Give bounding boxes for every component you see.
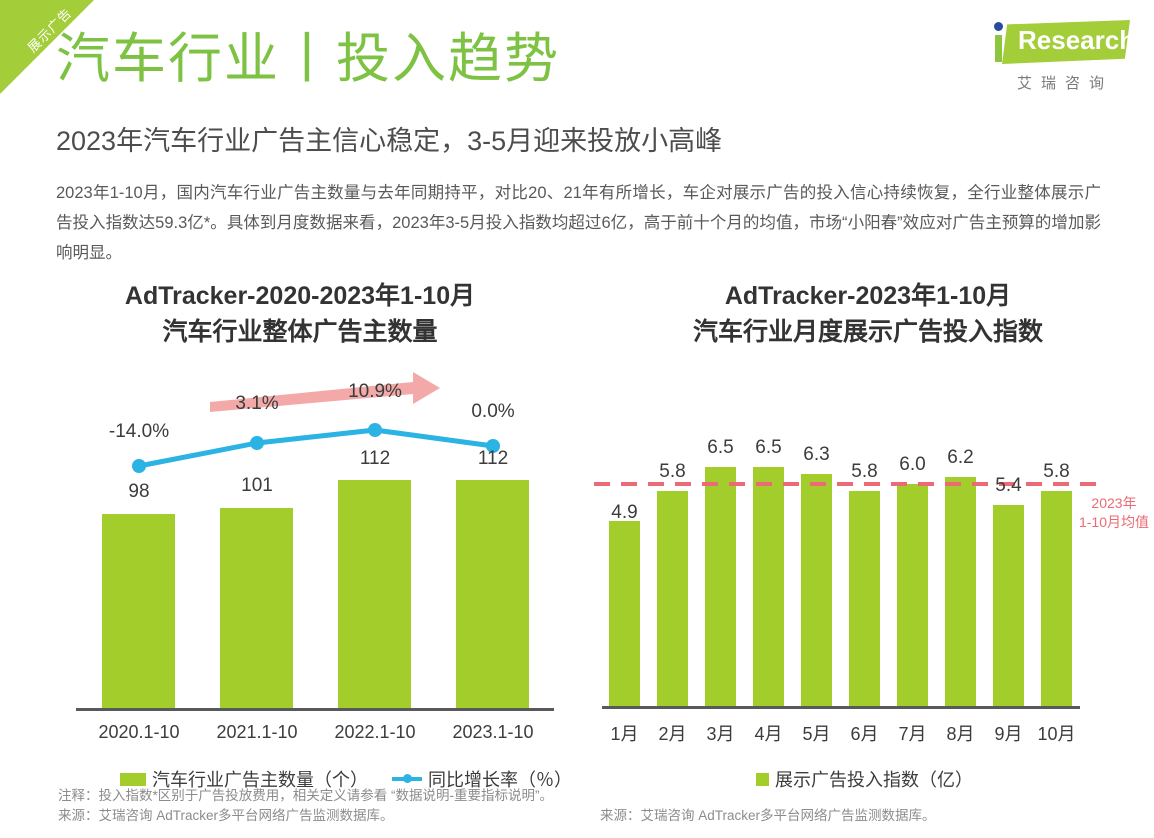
pct-label-2022: 10.9% xyxy=(318,381,432,403)
average-annotation-line2: 1-10月均值 xyxy=(1079,514,1149,530)
chart-monthly-index: AdTracker-2023年1-10月 汽车行业月度展示广告投入指数 xyxy=(588,278,1148,798)
growth-point-2020 xyxy=(132,459,146,473)
value-month-10: 5.8 xyxy=(1028,461,1085,483)
value-month-1: 4.9 xyxy=(596,502,653,524)
pct-label-2020: -14.0% xyxy=(82,421,196,443)
bar-2021 xyxy=(220,508,293,708)
value-month-2: 5.8 xyxy=(644,461,701,483)
x-label-2021: 2021.1-10 xyxy=(200,722,314,743)
footnote-left: 注释：投入指数*区别于广告投放费用，相关定义请参看 “数据说明-重要指标说明”。… xyxy=(58,786,578,826)
x-label-2022: 2022.1-10 xyxy=(318,722,432,743)
average-annotation-line1: 2023年 xyxy=(1091,495,1136,511)
page-title: 汽车行业丨投入趋势 xyxy=(56,28,560,90)
x-label-2023: 2023.1-10 xyxy=(436,722,550,743)
bar-2022 xyxy=(338,480,411,708)
bar-month-9 xyxy=(993,505,1024,706)
bar-month-7 xyxy=(897,484,928,706)
body-paragraph: 2023年1-10月，国内汽车行业广告主数量与去年同期持平，对比20、21年有所… xyxy=(56,178,1101,268)
bar-month-4 xyxy=(753,467,784,706)
chart-advertiser-count: AdTracker-2020-2023年1-10月 汽车行业整体广告主数量 xyxy=(20,278,580,798)
value-month-8: 6.2 xyxy=(932,447,989,469)
bar-month-1 xyxy=(609,521,640,706)
chart-right-graphics xyxy=(588,278,1148,748)
x-label-2020: 2020.1-10 xyxy=(82,722,196,743)
pct-label-2023: 0.0% xyxy=(436,401,550,423)
legend-index-label: 展示广告投入指数（亿） xyxy=(775,766,973,792)
bar-value-2023: 112 xyxy=(436,448,550,470)
bar-month-8 xyxy=(945,477,976,706)
footnote-right: 来源：艾瑞咨询 AdTracker多平台网络广告监测数据库。 xyxy=(600,806,1100,826)
page-subtitle: 2023年汽车行业广告主信心稳定，3-5月迎来投放小高峰 xyxy=(56,124,722,158)
bar-month-5 xyxy=(801,474,832,706)
bar-2020 xyxy=(102,514,175,708)
bar-month-6 xyxy=(849,491,880,706)
bar-month-10 xyxy=(1041,491,1072,706)
chart-right-legend: 展示广告投入指数（亿） xyxy=(756,766,973,792)
logo-chinese-name: 艾瑞咨询 xyxy=(998,72,1132,93)
chart-left-plot: -14.0% 3.1% 10.9% 0.0% 98 101 112 112 20… xyxy=(20,278,580,748)
bar-value-2022: 112 xyxy=(318,448,432,470)
bar-month-2 xyxy=(657,491,688,706)
legend-item-index[interactable]: 展示广告投入指数（亿） xyxy=(756,766,973,792)
logo-i-stem-icon xyxy=(995,35,1002,62)
pct-label-2021: 3.1% xyxy=(200,393,314,415)
x-label-month-10: 10月 xyxy=(1028,720,1085,746)
bar-2023 xyxy=(456,480,529,708)
growth-point-2021 xyxy=(250,436,264,450)
average-line-annotation: 2023年 1-10月均值 xyxy=(1074,494,1154,532)
bar-month-3 xyxy=(705,467,736,706)
legend-index-swatch-icon xyxy=(756,773,769,786)
logo-wordmark: Research xyxy=(1018,25,1135,56)
bar-value-2021: 101 xyxy=(200,475,314,497)
iresearch-logo: Research 艾瑞咨询 xyxy=(982,16,1132,100)
legend-line-swatch-icon xyxy=(392,777,422,781)
chart-left-graphics xyxy=(20,278,580,748)
x-axis-line xyxy=(602,706,1080,709)
growth-point-2022 xyxy=(368,423,382,437)
legend-bar-swatch-icon xyxy=(120,773,146,786)
logo-i-dot-icon xyxy=(994,22,1003,31)
slide-page: 展示广告 汽车行业丨投入趋势 2023年汽车行业广告主信心稳定，3-5月迎来投放… xyxy=(0,0,1154,838)
bar-value-2020: 98 xyxy=(82,481,196,503)
x-axis-line xyxy=(76,708,554,711)
chart-right-plot: 4.9 5.8 6.5 6.5 6.3 5.8 6.0 6.2 5.4 5.8 … xyxy=(588,278,1148,748)
